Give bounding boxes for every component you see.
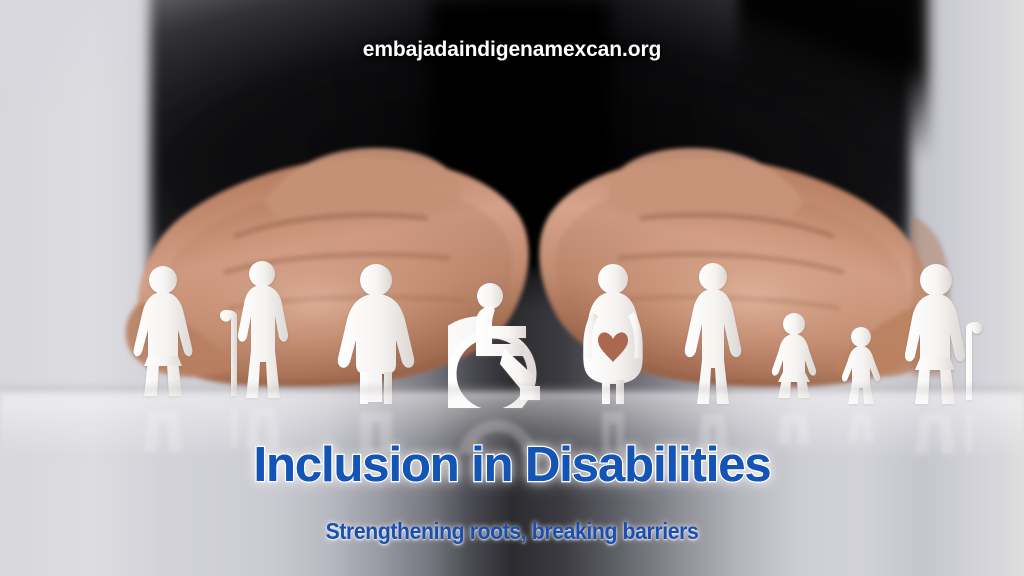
left-hand bbox=[118, 96, 538, 396]
page-title: Inclusion in Disabilities bbox=[0, 437, 1024, 493]
poster-canvas: embajadaindigenamexcan.org Inclusion in … bbox=[0, 0, 1024, 576]
poster-subtitle: Strengthening roots, breaking barriers bbox=[41, 518, 983, 545]
site-url-text: embajadaindigenamexcan.org bbox=[0, 38, 1024, 62]
right-hand bbox=[520, 96, 950, 396]
